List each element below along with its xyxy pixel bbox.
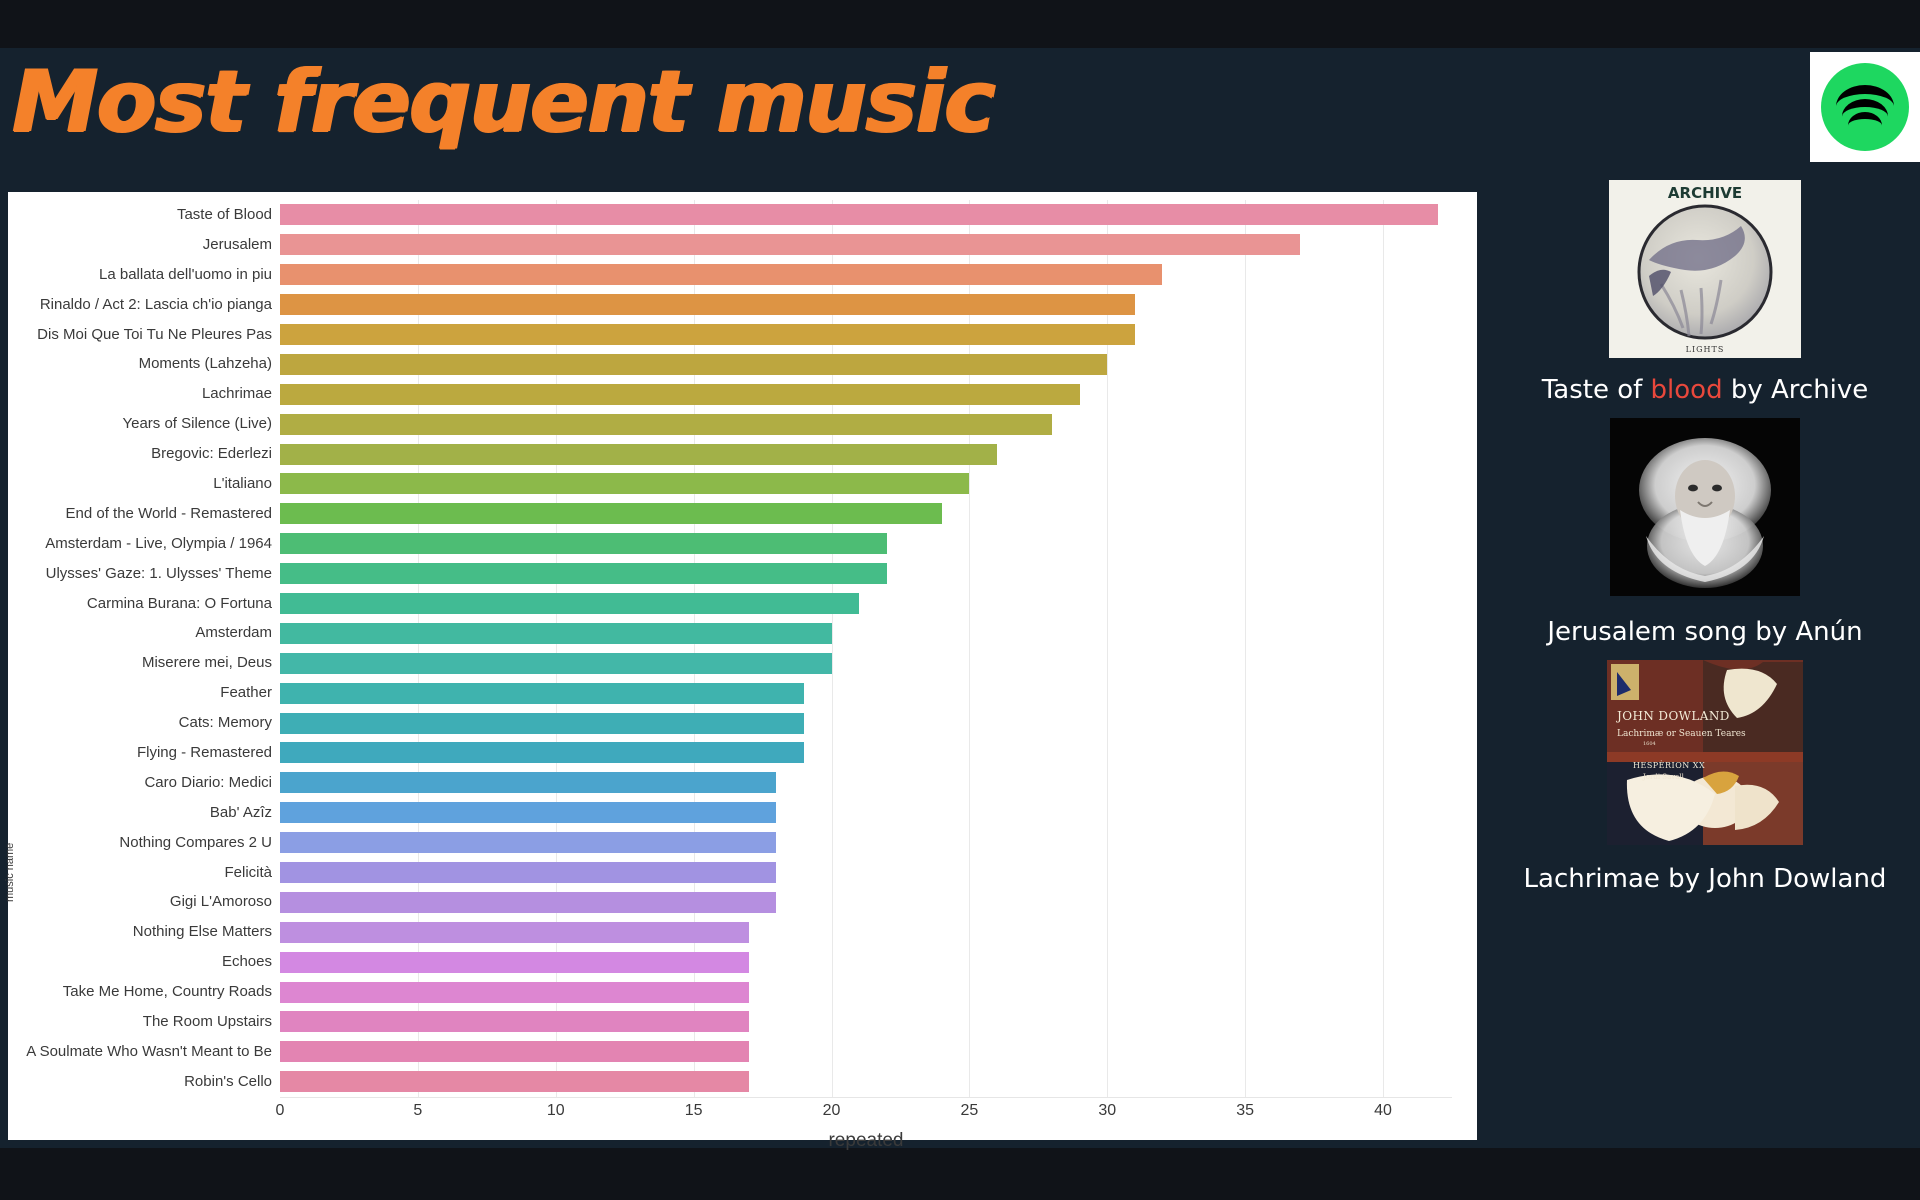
x-tick-label: 5 (413, 1102, 422, 1120)
bar-row (280, 349, 1452, 379)
y-tick-label: Dis Moi Que Toi Tu Ne Pleures Pas (8, 320, 280, 350)
y-tick-label: Moments (Lahzeha) (8, 349, 280, 379)
bar-row (280, 618, 1452, 648)
svg-text:Jordi Savall: Jordi Savall (1642, 773, 1685, 781)
bar[interactable] (280, 1071, 749, 1092)
svg-text:HESPÈRION XX: HESPÈRION XX (1633, 761, 1705, 770)
x-tick-label: 25 (961, 1102, 979, 1120)
y-tick-label: Caro Diario: Medici (8, 768, 280, 798)
bar-row (280, 768, 1452, 798)
bottom-bar (0, 1148, 1920, 1200)
y-tick-label: Amsterdam - Live, Olympia / 1964 (8, 529, 280, 559)
album-sidebar: ARCHIVE LIGHTS Taste of blood by Archive (1490, 180, 1920, 1140)
x-tick-label: 40 (1374, 1102, 1392, 1120)
y-axis-tick-labels: Taste of BloodJerusalemLa ballata dell'u… (8, 200, 280, 1097)
y-tick-label: Echoes (8, 947, 280, 977)
y-tick-label: Felicità (8, 858, 280, 888)
bar-row (280, 947, 1452, 977)
bar[interactable] (280, 444, 997, 465)
x-tick-label: 0 (276, 1102, 285, 1120)
spotify-logo-icon (1821, 63, 1909, 151)
bar-row (280, 977, 1452, 1007)
y-tick-label: Gigi L'Amoroso (8, 887, 280, 917)
caption-part-pre: Taste of (1542, 375, 1651, 405)
page-title: Most frequent music (12, 52, 994, 152)
y-tick-label: Feather (8, 678, 280, 708)
y-tick-label: End of the World - Remastered (8, 499, 280, 529)
bar[interactable] (280, 922, 749, 943)
bar-chart-panel: music name Taste of BloodJerusalemLa bal… (8, 192, 1477, 1140)
bar[interactable] (280, 802, 776, 823)
bar-row (280, 439, 1452, 469)
plot-area (280, 200, 1452, 1098)
album-caption-1: Taste of blood by Archive (1490, 372, 1920, 408)
bar[interactable] (280, 593, 859, 614)
y-tick-label: Lachrimae (8, 379, 280, 409)
y-tick-label: Bab' Azîz (8, 798, 280, 828)
svg-text:1604: 1604 (1643, 741, 1656, 747)
album-caption-2: Jerusalem song by Anún (1490, 614, 1920, 650)
x-tick-label: 20 (823, 1102, 841, 1120)
bar-row (280, 1037, 1452, 1067)
bar[interactable] (280, 503, 942, 524)
bar-row (280, 529, 1452, 559)
x-axis-tick-labels: 0510152025303540 (280, 1102, 1452, 1128)
bar[interactable] (280, 653, 832, 674)
y-tick-label: Amsterdam (8, 618, 280, 648)
bar[interactable] (280, 742, 804, 763)
x-tick-label: 35 (1236, 1102, 1254, 1120)
bar-row (280, 917, 1452, 947)
y-tick-label: La ballata dell'uomo in piu (8, 260, 280, 290)
spotify-logo-container (1810, 52, 1920, 162)
bar[interactable] (280, 384, 1080, 405)
slide-root: Most frequent music music name Taste of … (0, 0, 1920, 1200)
bar[interactable] (280, 1011, 749, 1032)
y-tick-label: A Soulmate Who Wasn't Meant to Be (8, 1037, 280, 1067)
bar-series (280, 200, 1452, 1097)
svg-text:LIGHTS: LIGHTS (1686, 345, 1725, 354)
bar-row (280, 708, 1452, 738)
y-tick-label: Years of Silence (Live) (8, 409, 280, 439)
bar-row (280, 887, 1452, 917)
bar-row (280, 1007, 1452, 1037)
bar[interactable] (280, 264, 1162, 285)
bar-row (280, 200, 1452, 230)
bar-row (280, 738, 1452, 768)
x-tick-label: 30 (1098, 1102, 1116, 1120)
bar[interactable] (280, 623, 832, 644)
bar[interactable] (280, 862, 776, 883)
bar-row (280, 230, 1452, 260)
bar[interactable] (280, 354, 1107, 375)
john-dowland-lachrimae-cover: JOHN DOWLAND Lachrimæ or Seauen Teares 1… (1607, 660, 1803, 845)
bar[interactable] (280, 324, 1135, 345)
bar[interactable] (280, 683, 804, 704)
y-tick-label: Rinaldo / Act 2: Lascia ch'io pianga (8, 290, 280, 320)
y-tick-label: Nothing Compares 2 U (8, 828, 280, 858)
bar[interactable] (280, 772, 776, 793)
bar-row (280, 678, 1452, 708)
svg-text:Lachrimæ or Seauen Teares: Lachrimæ or Seauen Teares (1617, 729, 1746, 739)
bar-row (280, 589, 1452, 619)
y-tick-label: Flying - Remastered (8, 738, 280, 768)
caption-part-post: by Archive (1723, 375, 1869, 405)
bar-row (280, 648, 1452, 678)
y-tick-label: Nothing Else Matters (8, 917, 280, 947)
bar-row (280, 260, 1452, 290)
album-card-taste-of-blood[interactable]: ARCHIVE LIGHTS Taste of blood by Archive (1490, 180, 1920, 408)
y-tick-label: Take Me Home, Country Roads (8, 977, 280, 1007)
bar-row (280, 559, 1452, 589)
album-card-lachrimae[interactable]: JOHN DOWLAND Lachrimæ or Seauen Teares 1… (1490, 660, 1920, 897)
svg-text:JOHN DOWLAND: JOHN DOWLAND (1615, 709, 1730, 723)
bar[interactable] (280, 832, 776, 853)
bar-row (280, 1067, 1452, 1097)
caption-highlight: blood (1651, 375, 1723, 405)
y-tick-label: Bregovic: Ederlezi (8, 439, 280, 469)
album-caption-3: Lachrimae by John Dowland (1490, 861, 1920, 897)
spotify-wave-3-icon (1848, 112, 1882, 139)
bar[interactable] (280, 204, 1438, 225)
bar-row (280, 409, 1452, 439)
anun-jerusalem-cover (1610, 418, 1800, 596)
y-tick-label: Carmina Burana: O Fortuna (8, 589, 280, 619)
bar-row (280, 828, 1452, 858)
plot-area-wrapper: Taste of BloodJerusalemLa ballata dell'u… (8, 192, 1477, 1140)
y-tick-label: Cats: Memory (8, 708, 280, 738)
top-bar (0, 0, 1920, 48)
bar[interactable] (280, 563, 887, 584)
y-tick-label: The Room Upstairs (8, 1007, 280, 1037)
bar-row (280, 320, 1452, 350)
y-tick-label: Taste of Blood (8, 200, 280, 230)
bar[interactable] (280, 533, 887, 554)
x-tick-label: 10 (547, 1102, 565, 1120)
bar-row (280, 379, 1452, 409)
archive-lights-album-cover: ARCHIVE LIGHTS (1609, 180, 1801, 358)
x-axis-title: repeated (280, 1130, 1452, 1152)
x-tick-label: 15 (685, 1102, 703, 1120)
bar-row (280, 798, 1452, 828)
bar[interactable] (280, 234, 1300, 255)
y-tick-label: Jerusalem (8, 230, 280, 260)
bar[interactable] (280, 892, 776, 913)
bar-row (280, 858, 1452, 888)
y-tick-label: Ulysses' Gaze: 1. Ulysses' Theme (8, 559, 280, 589)
bar[interactable] (280, 473, 969, 494)
album-card-jerusalem[interactable]: Jerusalem song by Anún (1490, 418, 1920, 650)
bar[interactable] (280, 1041, 749, 1062)
bar[interactable] (280, 713, 804, 734)
bar[interactable] (280, 982, 749, 1003)
bar-row (280, 290, 1452, 320)
bar-row (280, 499, 1452, 529)
bar[interactable] (280, 952, 749, 973)
cover-title-text: ARCHIVE (1668, 184, 1742, 202)
bar[interactable] (280, 294, 1135, 315)
y-tick-label: Robin's Cello (8, 1067, 280, 1097)
bar-row (280, 469, 1452, 499)
y-tick-label: L'italiano (8, 469, 280, 499)
bar[interactable] (280, 414, 1052, 435)
y-tick-label: Miserere mei, Deus (8, 648, 280, 678)
